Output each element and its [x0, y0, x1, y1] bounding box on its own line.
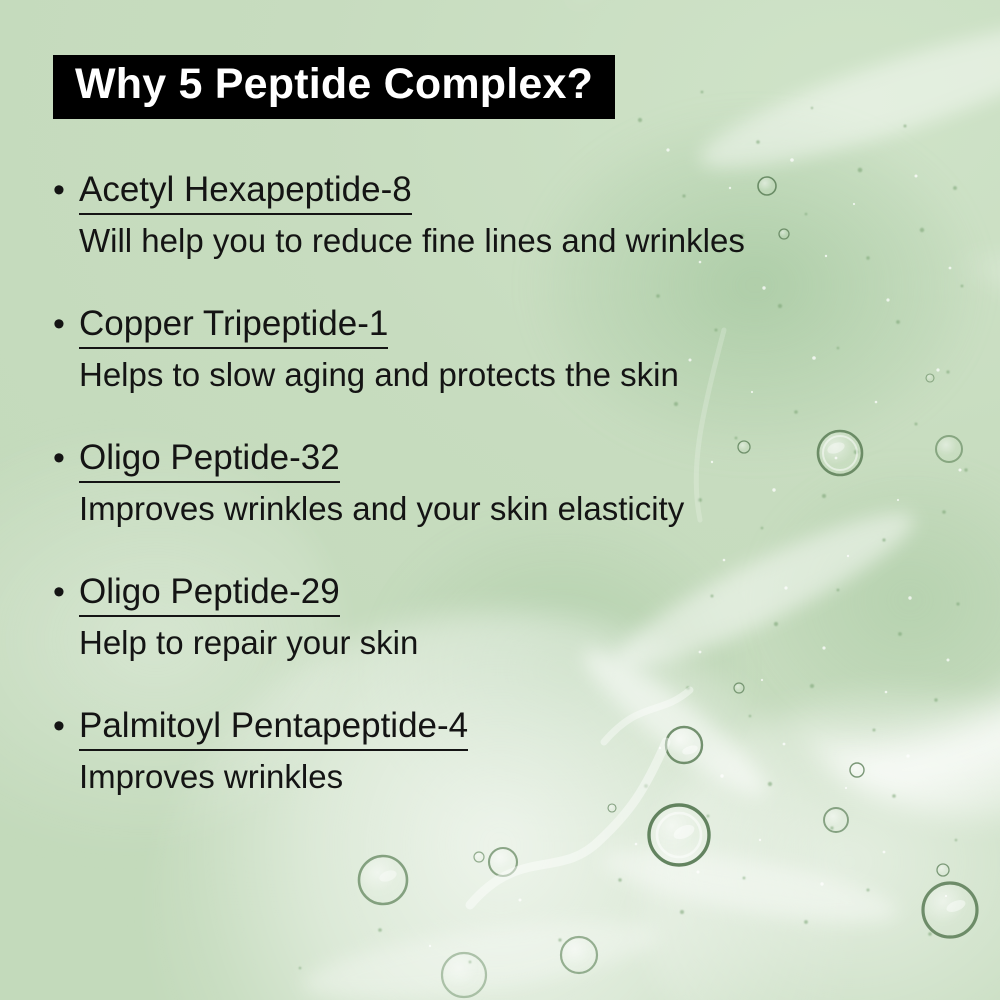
peptide-benefit: Helps to slow aging and protects the ski… [79, 353, 963, 397]
peptide-heading: • Palmitoyl Pentapeptide-4 [53, 704, 963, 751]
peptide-complex-infographic: Why 5 Peptide Complex? • Acetyl Hexapept… [0, 0, 1000, 1000]
list-item: • Palmitoyl Pentapeptide-4 Improves wrin… [53, 704, 963, 799]
peptide-name: Palmitoyl Pentapeptide-4 [79, 704, 468, 751]
title-banner: Why 5 Peptide Complex? [53, 55, 615, 119]
peptide-benefit: Improves wrinkles and your skin elastici… [79, 487, 963, 531]
bullet-icon: • [53, 303, 65, 345]
bullet-icon: • [53, 169, 65, 211]
bullet-icon: • [53, 437, 65, 479]
peptide-list: • Acetyl Hexapeptide-8 Will help you to … [53, 168, 963, 799]
list-item: • Oligo Peptide-29 Help to repair your s… [53, 570, 963, 665]
bullet-icon: • [53, 705, 65, 747]
bullet-icon: • [53, 571, 65, 613]
peptide-benefit: Help to repair your skin [79, 621, 963, 665]
page-title: Why 5 Peptide Complex? [75, 59, 593, 109]
peptide-name: Oligo Peptide-32 [79, 436, 340, 483]
list-item: • Acetyl Hexapeptide-8 Will help you to … [53, 168, 963, 263]
peptide-benefit: Improves wrinkles [79, 755, 963, 799]
peptide-name: Copper Tripeptide-1 [79, 302, 388, 349]
list-item: • Oligo Peptide-32 Improves wrinkles and… [53, 436, 963, 531]
peptide-heading: • Copper Tripeptide-1 [53, 302, 963, 349]
peptide-name: Oligo Peptide-29 [79, 570, 340, 617]
peptide-heading: • Oligo Peptide-29 [53, 570, 963, 617]
list-item: • Copper Tripeptide-1 Helps to slow agin… [53, 302, 963, 397]
peptide-benefit: Will help you to reduce fine lines and w… [79, 219, 963, 263]
peptide-heading: • Oligo Peptide-32 [53, 436, 963, 483]
peptide-heading: • Acetyl Hexapeptide-8 [53, 168, 963, 215]
peptide-name: Acetyl Hexapeptide-8 [79, 168, 412, 215]
